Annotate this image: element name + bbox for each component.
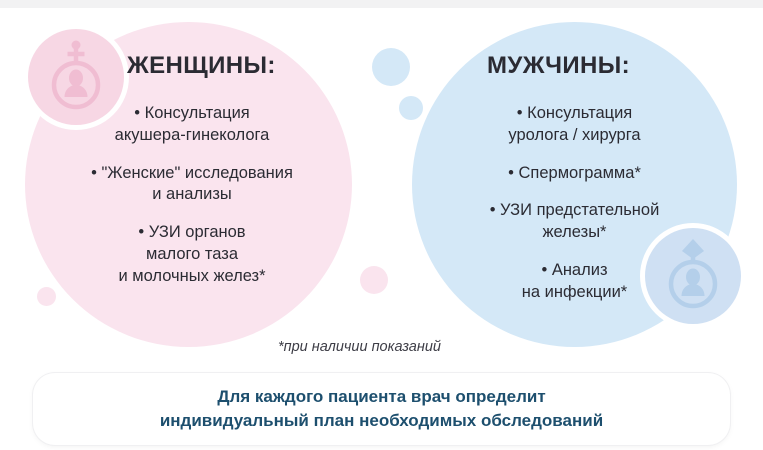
- male-services-list: • Консультация уролога / хирурга • Сперм…: [432, 103, 717, 303]
- top-strip: [0, 0, 763, 8]
- list-item: • Анализ на инфекции*: [432, 260, 717, 304]
- footnote-text: *при наличии показаний: [278, 339, 441, 355]
- male-section-title: МУЖЧИНЫ:: [487, 52, 630, 80]
- list-item: • УЗИ органов малого таза и молочных жел…: [52, 222, 332, 287]
- female-services-list: • Консультация акушера-гинеколога • "Жен…: [52, 103, 332, 287]
- decorative-bubble-pink-small: [37, 287, 56, 306]
- decorative-bubble-blue-small: [399, 96, 423, 120]
- list-item: • Консультация уролога / хирурга: [432, 103, 717, 147]
- banner-line-1: Для каждого пациента врач определит: [217, 385, 545, 409]
- decorative-bubble-pink-large: [360, 266, 388, 294]
- bottom-banner-card: Для каждого пациента врач определит инди…: [33, 373, 730, 445]
- list-item: • Консультация акушера-гинеколога: [52, 103, 332, 147]
- infographic-canvas: ЖЕНЩИНЫ: • Консультация акушера-гинеколо…: [0, 0, 763, 450]
- list-item: • "Женские" исследования и анализы: [52, 163, 332, 207]
- list-item: • Спермограмма*: [432, 163, 717, 185]
- female-section-title: ЖЕНЩИНЫ:: [127, 52, 276, 80]
- decorative-bubble-blue-large: [372, 48, 410, 86]
- banner-line-2: индивидуальный план необходимых обследов…: [160, 409, 603, 433]
- list-item: • УЗИ предстательной железы*: [432, 200, 717, 244]
